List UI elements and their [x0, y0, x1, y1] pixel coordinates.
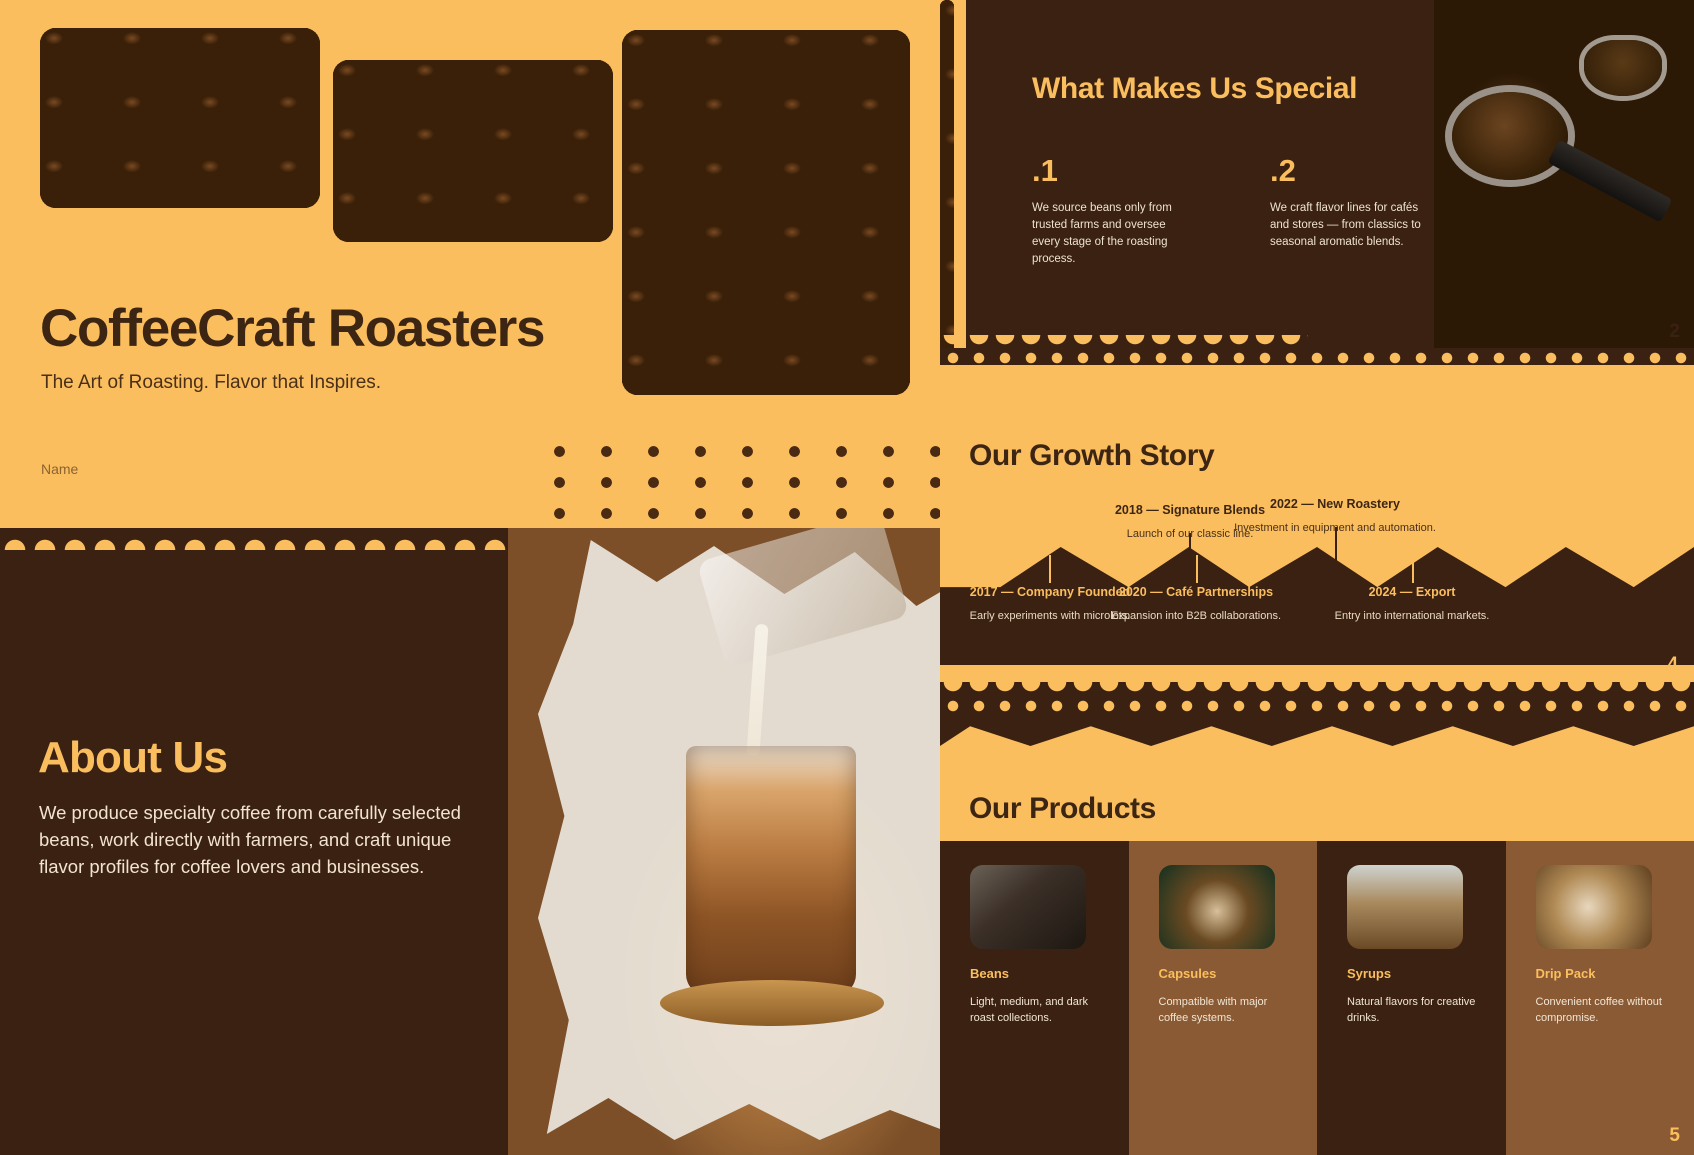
wooden-coaster	[660, 980, 884, 1026]
zigzag-edge-top	[940, 712, 1694, 746]
slide-growth-story[interactable]: Our Growth Story 2018 — Signature Blends…	[940, 365, 1694, 702]
coffee-scoop	[1584, 40, 1662, 96]
timeline-year: 2024 — Export	[1292, 585, 1532, 599]
page-subtitle: The Art of Roasting. Flavor that Inspire…	[41, 372, 381, 394]
special-item: .1 We source beans only from trusted far…	[1032, 155, 1192, 268]
portafilter-handle	[1547, 139, 1672, 222]
product-thumbnail	[1536, 865, 1652, 949]
special-items-list: .1 We source beans only from trusted far…	[1032, 155, 1430, 268]
product-name: Drip Pack	[1536, 966, 1679, 981]
special-item-text: We source beans only from trusted farms …	[1032, 200, 1192, 268]
product-description: Natural flavors for creative drinks.	[1347, 995, 1479, 1027]
page-number-2: 2	[1669, 321, 1680, 343]
product-description: Compatible with major coffee systems.	[1159, 995, 1291, 1027]
product-card[interactable]: Syrups Natural flavors for creative drin…	[1317, 841, 1506, 1155]
slide-our-products[interactable]: Our Products Beans Light, medium, and da…	[940, 712, 1694, 1155]
special-item-number: .1	[1032, 155, 1192, 186]
name-placeholder[interactable]: Name	[41, 461, 78, 477]
timeline-desc: Expansion into B2B collaborations.	[1076, 610, 1316, 622]
presentation-deck: CoffeeCraft Roasters The Art of Roasting…	[0, 0, 1694, 1155]
page-title: CoffeeCraft Roasters	[40, 298, 544, 359]
product-card[interactable]: Drip Pack Convenient coffee without comp…	[1506, 841, 1694, 1155]
timeline-entry: 2020 — Café Partnerships Expansion into …	[1076, 585, 1316, 622]
timeline-desc: Entry into international markets.	[1292, 610, 1532, 622]
timeline-tick	[1196, 555, 1198, 583]
product-name: Capsules	[1159, 966, 1302, 981]
product-name: Beans	[970, 966, 1113, 981]
slide-title[interactable]: CoffeeCraft Roasters The Art of Roasting…	[0, 0, 1012, 572]
product-thumbnail	[1347, 865, 1463, 949]
coffee-glass	[686, 746, 856, 996]
products-heading: Our Products	[969, 792, 1156, 826]
growth-heading: Our Growth Story	[969, 439, 1214, 473]
polka-dot-pattern	[536, 436, 956, 528]
product-card-list: Beans Light, medium, and dark roast coll…	[940, 841, 1694, 1155]
timeline-entry: 2024 — Export Entry into international m…	[1292, 585, 1532, 622]
timeline-tick	[1335, 527, 1337, 569]
barista-portafilter-photo: 2	[1434, 0, 1694, 355]
iced-coffee-photo	[508, 528, 1012, 1155]
product-card[interactable]: Beans Light, medium, and dark roast coll…	[940, 841, 1129, 1155]
special-item: .2 We craft flavor lines for cafés and s…	[1270, 155, 1430, 268]
product-description: Convenient coffee without compromise.	[1536, 995, 1668, 1027]
special-heading: What Makes Us Special	[1032, 72, 1357, 106]
slide-what-makes-us-special[interactable]: 2 What Makes Us Special .1 We source bea…	[940, 0, 1694, 355]
timeline-tick	[1189, 533, 1191, 569]
product-name: Syrups	[1347, 966, 1490, 981]
coffee-beans-photo-right	[622, 30, 910, 395]
coffee-beans-photo-middle	[333, 60, 613, 242]
product-card[interactable]: Capsules Compatible with major coffee sy…	[1129, 841, 1318, 1155]
about-heading: About Us	[38, 733, 227, 783]
page-number-5: 5	[1669, 1125, 1680, 1147]
product-thumbnail	[1159, 865, 1275, 949]
special-item-text: We craft flavor lines for cafés and stor…	[1270, 200, 1430, 251]
product-description: Light, medium, and dark roast collection…	[970, 995, 1102, 1027]
timeline-tick	[1412, 555, 1414, 583]
bean-edge-photo	[940, 0, 954, 355]
coffee-beans-photo-left	[40, 28, 320, 208]
timeline-year: 2020 — Café Partnerships	[1076, 585, 1316, 599]
timeline-tick	[1049, 555, 1051, 583]
page-number-4: 4	[1667, 654, 1678, 676]
about-body-text: We produce specialty coffee from careful…	[39, 800, 479, 880]
product-thumbnail	[970, 865, 1086, 949]
slide-about-us[interactable]: About Us We produce specialty coffee fro…	[0, 528, 1012, 1155]
special-item-number: .2	[1270, 155, 1430, 186]
portafilter-basket	[1452, 92, 1568, 180]
timeline-year: 2022 — New Roastery	[1215, 497, 1455, 511]
